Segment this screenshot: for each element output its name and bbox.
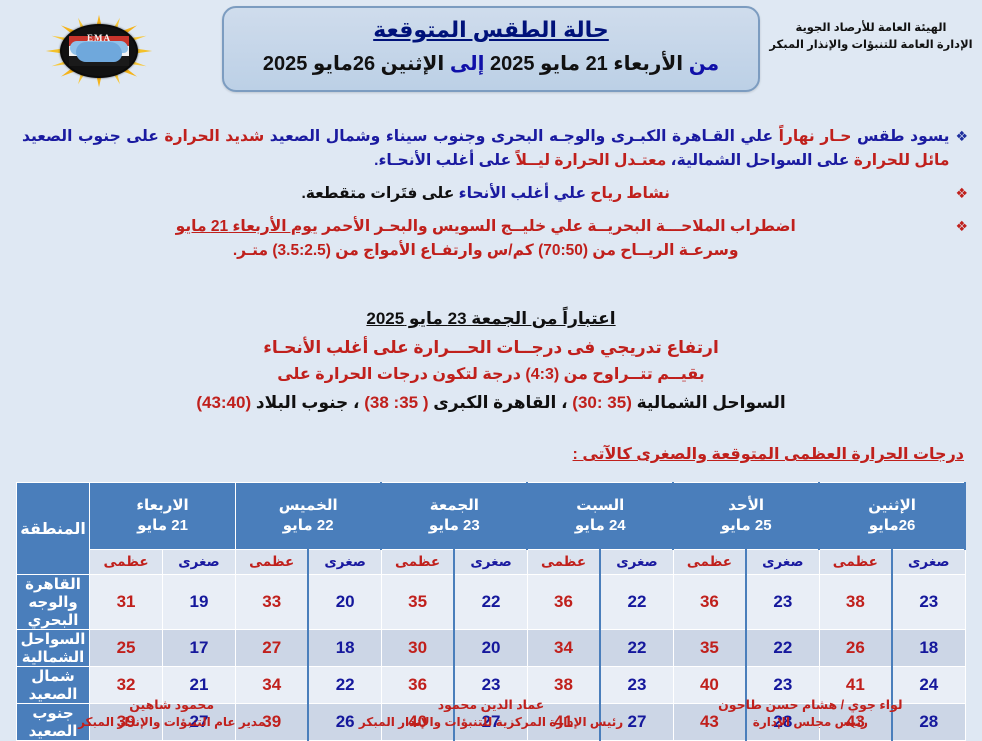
table-row: 233823362236223520331931القاهرة والوجه ا… bbox=[17, 575, 966, 630]
ema-acronym: EMA bbox=[62, 33, 136, 43]
cell-max-temp: 30 bbox=[381, 630, 454, 667]
column-header-max: عظمى bbox=[527, 550, 600, 575]
cell-min-temp: 22 bbox=[600, 630, 673, 667]
day-name: الاربعاء bbox=[90, 496, 235, 516]
signature-block: عماد الدين محمودرئيس الإدارة المركزية لل… bbox=[331, 697, 650, 731]
column-header-min: صغرى bbox=[746, 550, 819, 575]
title-banner: حالة الطقس المتوقعة من الأربعاء 21 مايو … bbox=[222, 6, 760, 92]
table-header-day: الاربعاء21 مايو bbox=[90, 483, 236, 550]
column-header-min: صغرى bbox=[454, 550, 527, 575]
cell-max-temp: 36 bbox=[527, 575, 600, 630]
signature-role: رئيس مجلس الإدارة bbox=[651, 714, 970, 731]
cell-min-temp: 18 bbox=[308, 630, 381, 667]
list-item: ❖ اضطراب الملاحـــة البحريــة علي خليــج… bbox=[22, 215, 968, 263]
table-header-day: الأحد25 مايو bbox=[673, 483, 819, 550]
cell-min-temp: 20 bbox=[454, 630, 527, 667]
signature-name: لواء جوي / هشام حسن طاحون bbox=[651, 697, 970, 715]
table-caption: درجات الحرارة العظمى المتوقعة والصغرى كا… bbox=[573, 444, 964, 464]
range-cairo-value: ( 35: 38) bbox=[364, 393, 428, 412]
day-date: 25 مايو bbox=[674, 516, 818, 536]
range-north-coast-value: (35 :30) bbox=[572, 393, 632, 412]
range-south-label: ، جنوب البلاد bbox=[251, 393, 364, 412]
date-range-end: الإثنين 26مايو 2025 bbox=[263, 53, 444, 75]
page-title: حالة الطقس المتوقعة bbox=[224, 17, 758, 43]
document-header: EMA حالة الطقس المتوقعة من الأربعاء 21 م… bbox=[0, 0, 982, 108]
table-row: 182622352234203018271725السواحل الشمالية bbox=[17, 630, 966, 667]
rise-amount-line: بقيــم تتــراوح من (4:3) درجة لتكون درجا… bbox=[0, 363, 982, 387]
diamond-bullet-icon: ❖ bbox=[955, 217, 968, 236]
regional-ranges-line: السواحل الشمالية (35 :30) ، القاهرة الكب… bbox=[0, 390, 982, 416]
cell-max-temp: 35 bbox=[673, 630, 746, 667]
cell-min-temp: 22 bbox=[454, 575, 527, 630]
cell-max-temp: 25 bbox=[90, 630, 163, 667]
cell-max-temp: 34 bbox=[527, 630, 600, 667]
effective-date-line: اعتباراً من الجمعة 23 مايو 2025 bbox=[0, 306, 982, 332]
cell-min-temp: 23 bbox=[746, 575, 819, 630]
column-header-max: عظمى bbox=[381, 550, 454, 575]
table-header-day: الجمعة23 مايو bbox=[381, 483, 527, 550]
day-date: 22 مايو bbox=[236, 516, 380, 536]
table-header-day: الإثنين26مايو bbox=[819, 483, 965, 550]
organization-department: الإدارة العامة للتنبؤات والإنذار المبكر bbox=[768, 37, 974, 54]
column-header-max: عظمى bbox=[819, 550, 892, 575]
signature-role: رئيس الإدارة المركزية للتنبؤات والإنذار … bbox=[331, 714, 650, 731]
table-header-day: الخميس22 مايو bbox=[235, 483, 381, 550]
day-date: 23 مايو bbox=[382, 516, 526, 536]
temperature-rise-section: اعتباراً من الجمعة 23 مايو 2025 ارتفاع ت… bbox=[0, 306, 982, 416]
cell-min-temp: 22 bbox=[746, 630, 819, 667]
signature-name: محمود شاهين bbox=[12, 697, 331, 715]
date-range: من الأربعاء 21 مايو 2025 إلى الإثنين 26م… bbox=[224, 51, 758, 76]
column-header-min: صغرى bbox=[600, 550, 673, 575]
range-north-coast-label: السواحل الشمالية bbox=[632, 393, 786, 412]
signature-role: مدير عام التنبؤات والإنذار المبكر bbox=[12, 714, 331, 731]
table-header-region: المنطقة bbox=[17, 483, 90, 575]
table-header-row-minmax: صغرىعظمىصغرىعظمىصغرىعظمىصغرىعظمىصغرىعظمى… bbox=[17, 550, 966, 575]
organization-name: الهيئة العامة للأرصاد الجوية bbox=[768, 20, 974, 37]
cell-min-temp: 18 bbox=[892, 630, 965, 667]
date-range-prefix: من bbox=[689, 53, 719, 75]
day-name: الخميس bbox=[236, 496, 380, 516]
cell-min-temp: 17 bbox=[163, 630, 236, 667]
day-date: 26مايو bbox=[820, 516, 964, 536]
column-header-max: عظمى bbox=[235, 550, 308, 575]
range-south-value: (43:40) bbox=[196, 393, 251, 412]
cell-max-temp: 33 bbox=[235, 575, 308, 630]
signature-name: عماد الدين محمود bbox=[331, 697, 650, 715]
cell-min-temp: 23 bbox=[892, 575, 965, 630]
cell-max-temp: 26 bbox=[819, 630, 892, 667]
day-name: الجمعة bbox=[382, 496, 526, 516]
column-header-min: صغرى bbox=[163, 550, 236, 575]
signatures-footer: لواء جوي / هشام حسن طاحونرئيس مجلس الإدا… bbox=[0, 697, 982, 731]
cell-region-name: السواحل الشمالية bbox=[17, 630, 90, 667]
cell-region-name: القاهرة والوجه البحري bbox=[17, 575, 90, 630]
range-cairo-label: ، القاهرة الكبرى bbox=[429, 393, 573, 412]
column-header-max: عظمى bbox=[90, 550, 163, 575]
day-date: 24 مايو bbox=[528, 516, 672, 536]
cloud-icon bbox=[76, 42, 122, 62]
organization-block: الهيئة العامة للأرصاد الجوية الإدارة الع… bbox=[768, 20, 974, 53]
cell-max-temp: 31 bbox=[90, 575, 163, 630]
date-range-connector: إلى bbox=[450, 53, 485, 75]
column-header-max: عظمى bbox=[673, 550, 746, 575]
cell-max-temp: 27 bbox=[235, 630, 308, 667]
ema-logo: EMA bbox=[34, 12, 164, 90]
forecast-bullet-list: ❖ يسود طقس حـار نهاراً علي القـاهرة الكب… bbox=[0, 125, 982, 272]
diamond-bullet-icon: ❖ bbox=[955, 184, 968, 203]
day-date: 21 مايو bbox=[90, 516, 235, 536]
bullet-text-weather: يسود طقس حـار نهاراً علي القـاهرة الكبـر… bbox=[22, 125, 949, 173]
bullet-text-wind: نشاط رياح علي أغلب الأنحاء على فتَرات مت… bbox=[22, 182, 949, 206]
cell-min-temp: 19 bbox=[163, 575, 236, 630]
column-header-min: صغرى bbox=[308, 550, 381, 575]
list-item: ❖ نشاط رياح علي أغلب الأنحاء على فتَرات … bbox=[22, 182, 968, 206]
day-name: السبت bbox=[528, 496, 672, 516]
cell-max-temp: 36 bbox=[673, 575, 746, 630]
gradual-rise-line: ارتفاع تدريجي فى درجــات الحـــرارة على … bbox=[0, 335, 982, 361]
column-header-min: صغرى bbox=[892, 550, 965, 575]
table-header-day: السبت24 مايو bbox=[527, 483, 673, 550]
bullet-text-marine: اضطراب الملاحـــة البحريــة علي خليــج ا… bbox=[22, 215, 949, 263]
day-name: الإثنين bbox=[820, 496, 964, 516]
table-header-row-days: الإثنين26مايوالأحد25 مايوالسبت24 مايوالج… bbox=[17, 483, 966, 550]
ema-emblem: EMA bbox=[60, 24, 138, 78]
signature-block: لواء جوي / هشام حسن طاحونرئيس مجلس الإدا… bbox=[651, 697, 970, 731]
cell-max-temp: 35 bbox=[381, 575, 454, 630]
diamond-bullet-icon: ❖ bbox=[955, 127, 968, 146]
day-name: الأحد bbox=[674, 496, 818, 516]
table-head: الإثنين26مايوالأحد25 مايوالسبت24 مايوالج… bbox=[17, 483, 966, 575]
signature-block: محمود شاهينمدير عام التنبؤات والإنذار ال… bbox=[12, 697, 331, 731]
cell-max-temp: 38 bbox=[819, 575, 892, 630]
date-range-start: الأربعاء 21 مايو 2025 bbox=[490, 53, 683, 75]
cell-min-temp: 22 bbox=[600, 575, 673, 630]
list-item: ❖ يسود طقس حـار نهاراً علي القـاهرة الكب… bbox=[22, 125, 968, 173]
cell-min-temp: 20 bbox=[308, 575, 381, 630]
